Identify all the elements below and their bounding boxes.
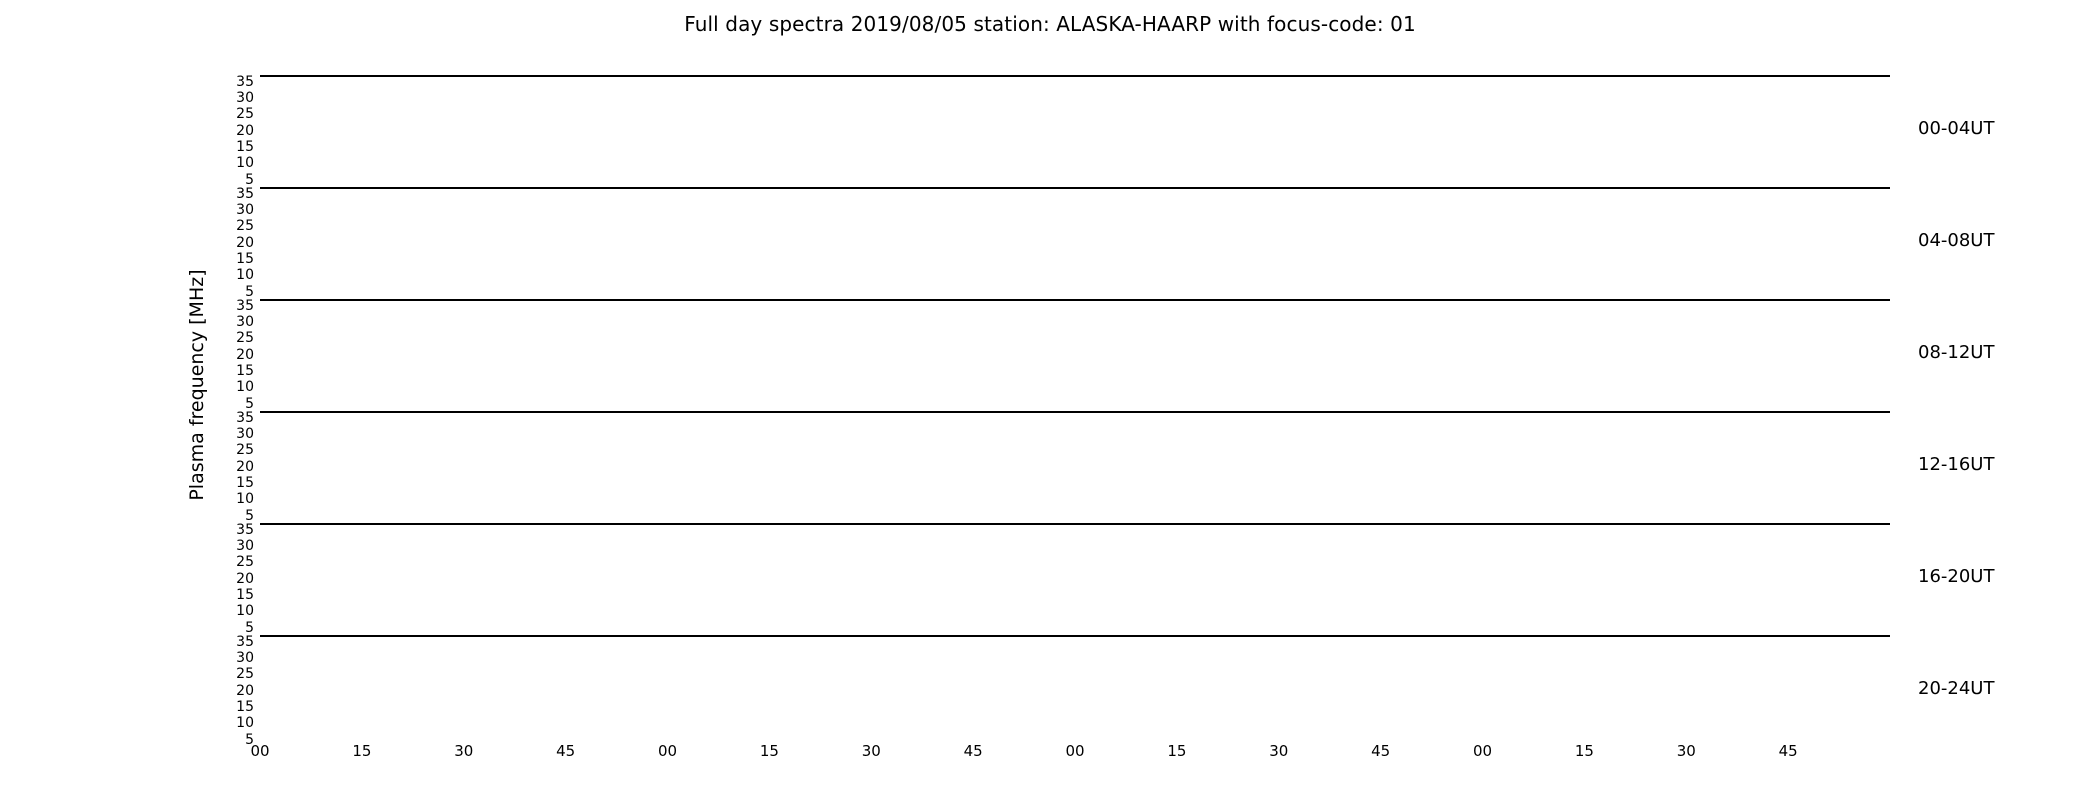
y-axis-tick-label: 15 [236, 700, 254, 714]
y-axis-tick-label: 30 [236, 539, 254, 553]
y-axis-tick-label: 15 [236, 476, 254, 490]
y-axis-tick-label: 10 [236, 604, 254, 618]
y-axis-tick-label: 30 [236, 203, 254, 217]
y-axis-tick-label: 15 [236, 364, 254, 378]
y-axis-tick-label: 35 [236, 635, 254, 649]
panel-time-label: 20-24UT [1918, 678, 1994, 699]
y-axis-tick-label: 35 [236, 75, 254, 89]
panel-time-label: 08-12UT [1918, 342, 1994, 363]
y-axis-tick-label: 35 [236, 523, 254, 537]
x-axis-tick-label: 45 [1361, 742, 1401, 760]
spectrogram-panel [260, 187, 1890, 189]
y-axis-tick-label: 20 [236, 684, 254, 698]
panel-time-label: 16-20UT [1918, 566, 1994, 587]
x-axis-tick-label: 30 [1259, 742, 1299, 760]
y-axis-tick-label: 5 [245, 509, 254, 523]
x-axis-tick-label: 15 [1157, 742, 1197, 760]
y-axis-tick-labels: 3530252015105 [200, 411, 254, 519]
y-axis-tick-label: 20 [236, 124, 254, 138]
y-axis-tick-label: 20 [236, 236, 254, 250]
x-axis-tick-label: 15 [342, 742, 382, 760]
y-axis-tick-label: 30 [236, 315, 254, 329]
y-axis-tick-labels: 3530252015105 [200, 299, 254, 407]
y-axis-tick-label: 25 [236, 667, 254, 681]
y-axis-tick-labels: 3530252015105 [200, 187, 254, 295]
spectrogram-panel [260, 523, 1890, 525]
y-axis-tick-label: 25 [236, 107, 254, 121]
spectrogram-panel [260, 411, 1890, 413]
x-axis-tick-label: 45 [1768, 742, 1808, 760]
figure-title: Full day spectra 2019/08/05 station: ALA… [0, 12, 2100, 36]
x-axis-tick-label: 30 [1666, 742, 1706, 760]
spectrogram-panel [260, 635, 1890, 637]
x-axis-tick-label: 45 [953, 742, 993, 760]
y-axis-tick-label: 25 [236, 219, 254, 233]
y-axis-tick-label: 20 [236, 460, 254, 474]
y-axis-tick-labels: 3530252015105 [200, 635, 254, 743]
y-axis-tick-label: 5 [245, 285, 254, 299]
y-axis-tick-label: 10 [236, 716, 254, 730]
figure-canvas: Full day spectra 2019/08/05 station: ALA… [0, 0, 2100, 800]
y-axis-tick-label: 15 [236, 252, 254, 266]
panel-time-label: 00-04UT [1918, 118, 1994, 139]
y-axis-tick-label: 25 [236, 331, 254, 345]
y-axis-tick-label: 20 [236, 572, 254, 586]
y-axis-tick-label: 30 [236, 651, 254, 665]
y-axis-tick-label: 25 [236, 443, 254, 457]
x-axis-tick-label: 00 [240, 742, 280, 760]
y-axis-tick-label: 10 [236, 492, 254, 506]
x-axis-tick-label: 15 [1564, 742, 1604, 760]
panel-time-label: 04-08UT [1918, 230, 1994, 251]
y-axis-tick-label: 35 [236, 187, 254, 201]
y-axis-tick-label: 10 [236, 268, 254, 282]
y-axis-tick-labels: 3530252015105 [200, 523, 254, 631]
y-axis-tick-label: 30 [236, 427, 254, 441]
panel-time-label: 12-16UT [1918, 454, 1994, 475]
y-axis-tick-label: 35 [236, 299, 254, 313]
spectrogram-panel [260, 75, 1890, 77]
x-axis-tick-label: 00 [1463, 742, 1503, 760]
y-axis-tick-label: 5 [245, 621, 254, 635]
y-axis-tick-label: 30 [236, 91, 254, 105]
y-axis-tick-label: 10 [236, 156, 254, 170]
y-axis-tick-label: 5 [245, 397, 254, 411]
y-axis-tick-labels: 3530252015105 [200, 75, 254, 183]
y-axis-tick-label: 10 [236, 380, 254, 394]
y-axis-tick-label: 15 [236, 140, 254, 154]
x-axis-tick-label: 30 [851, 742, 891, 760]
y-axis-tick-label: 20 [236, 348, 254, 362]
x-axis-tick-label: 00 [648, 742, 688, 760]
y-axis-tick-label: 35 [236, 411, 254, 425]
x-axis-tick-label: 15 [749, 742, 789, 760]
x-axis-tick-label: 45 [546, 742, 586, 760]
x-axis-tick-label: 00 [1055, 742, 1095, 760]
spectrogram-panel [260, 299, 1890, 301]
y-axis-tick-label: 5 [245, 173, 254, 187]
x-axis-tick-label: 30 [444, 742, 484, 760]
y-axis-tick-label: 15 [236, 588, 254, 602]
y-axis-tick-label: 25 [236, 555, 254, 569]
